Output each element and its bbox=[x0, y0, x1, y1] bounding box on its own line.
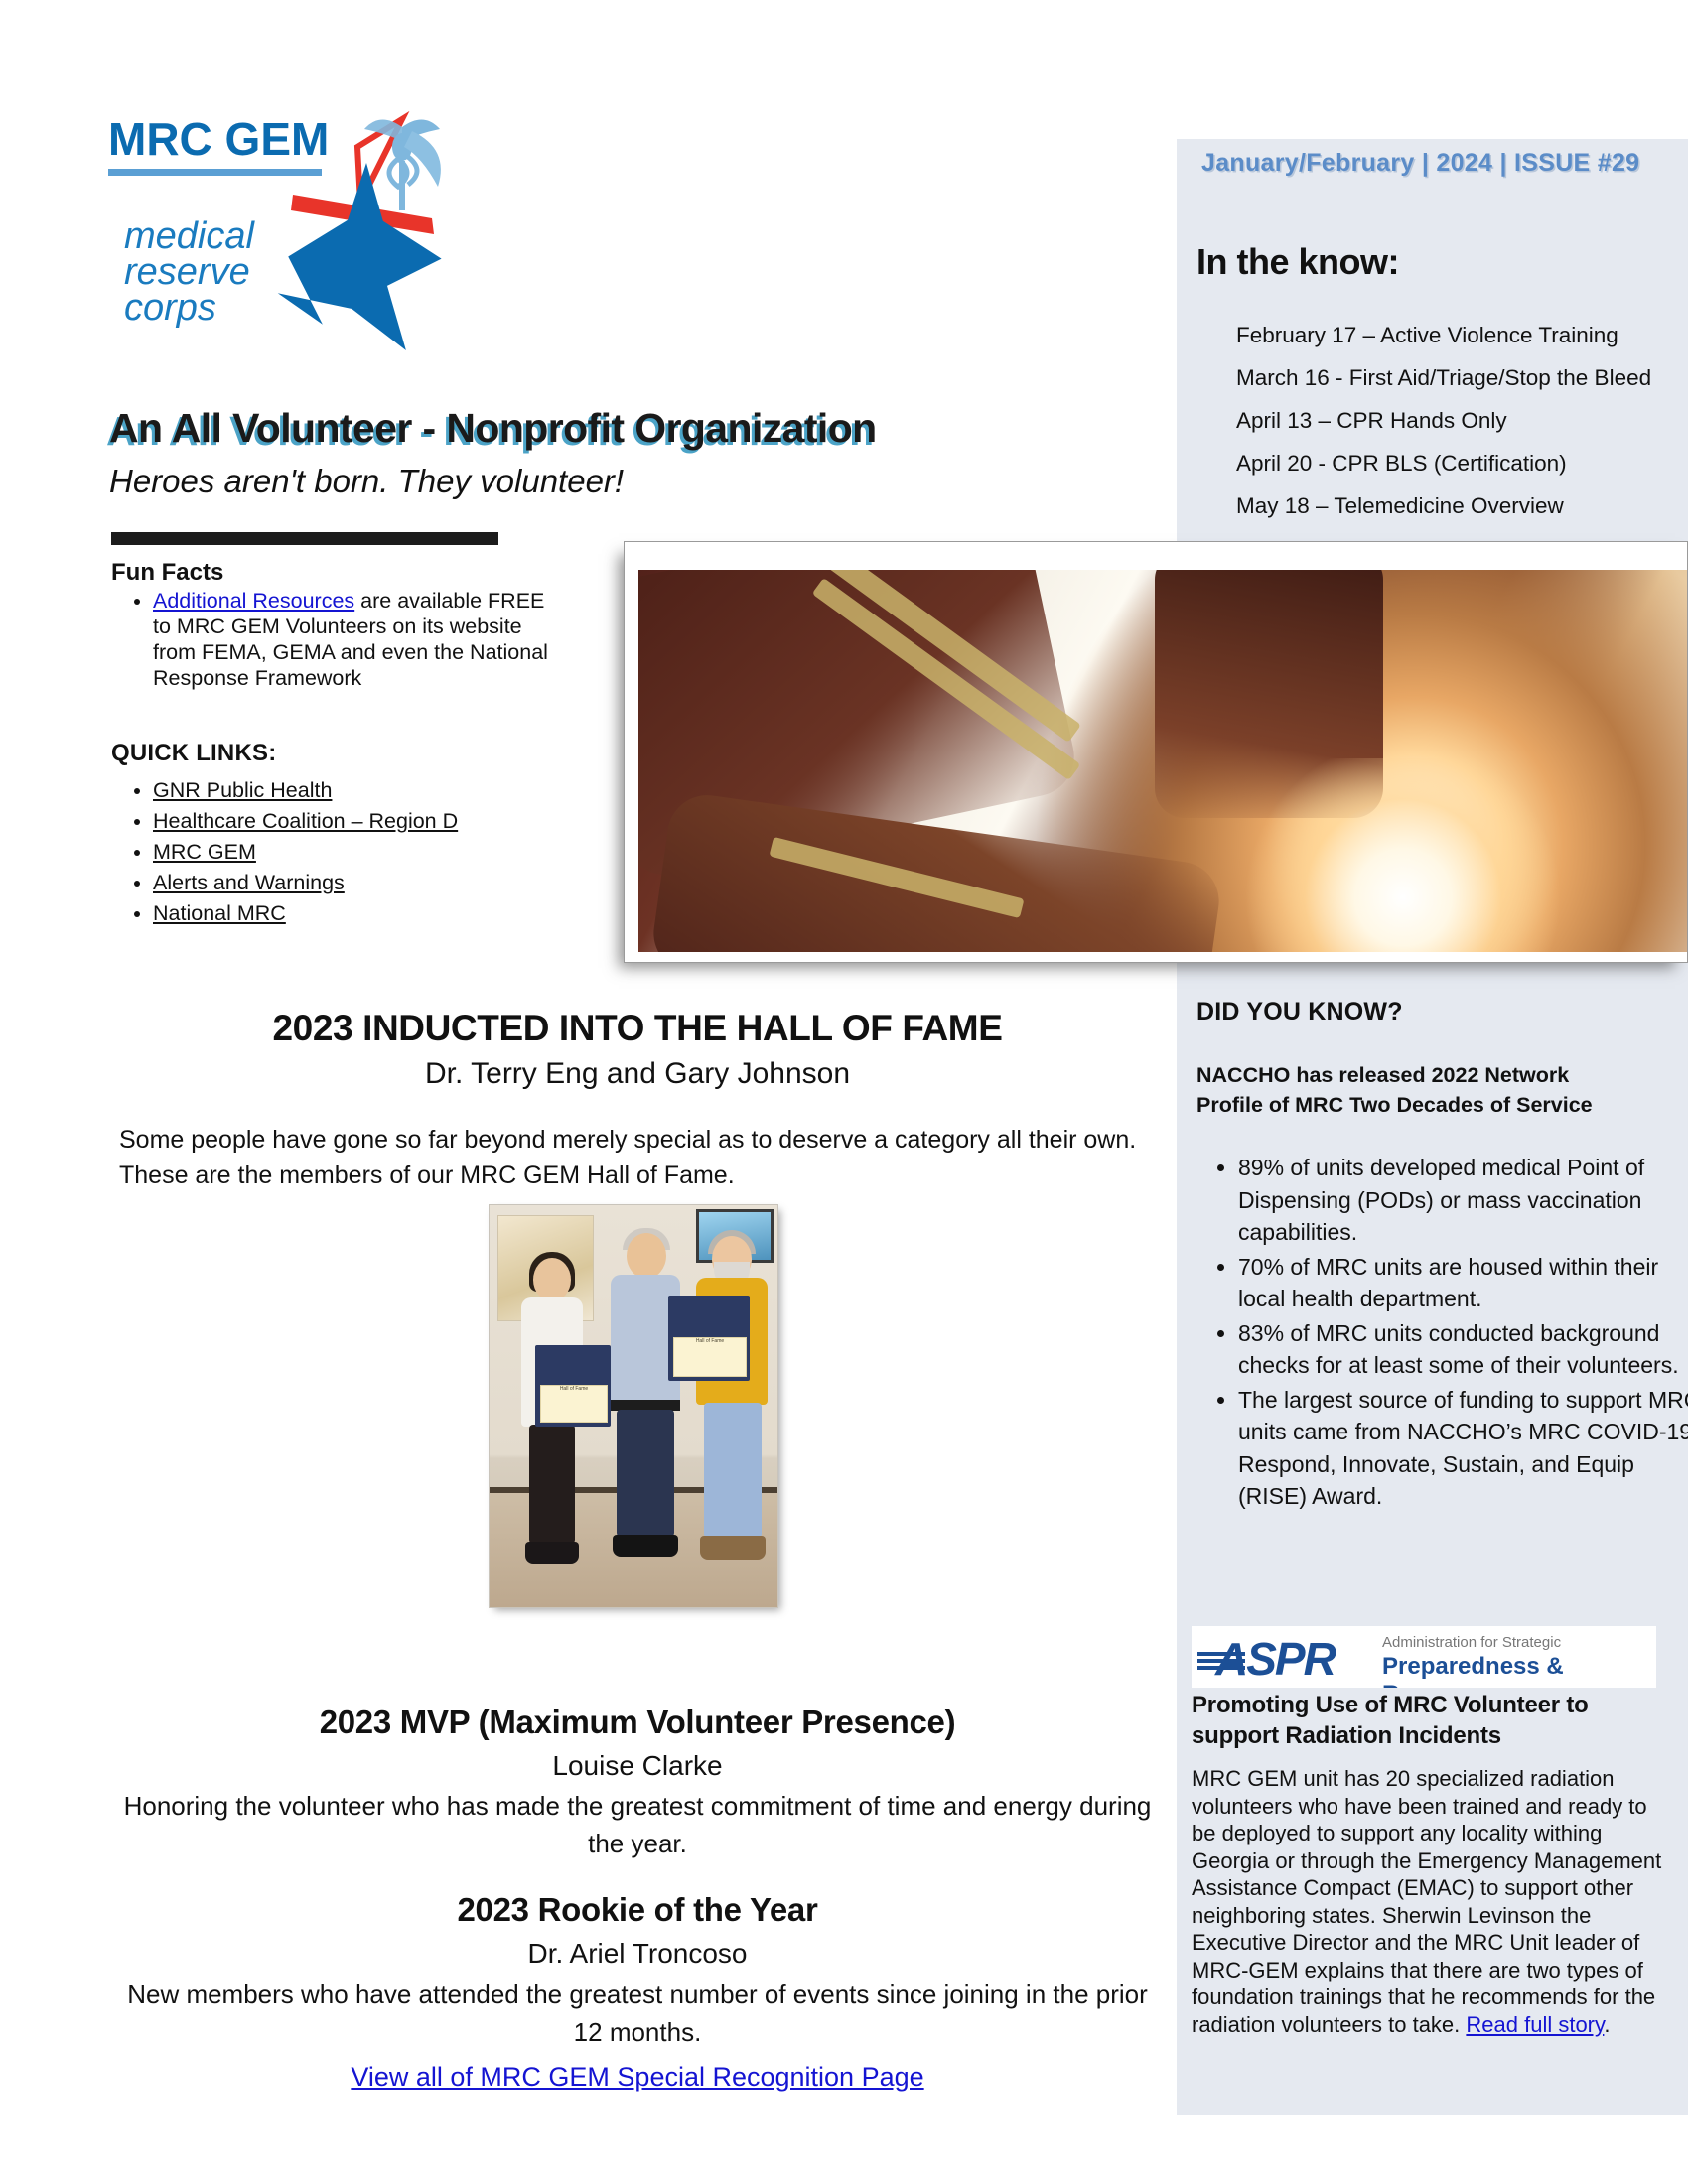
mvp-name: Louise Clarke bbox=[111, 1750, 1164, 1782]
aspr-tagline-line2: Preparedness & Response bbox=[1382, 1653, 1656, 1688]
logo-sub-3: corps bbox=[124, 287, 216, 329]
newsletter-page: January/February | 2024 | ISSUE #29 In t… bbox=[0, 0, 1688, 2184]
sun-flare bbox=[1234, 758, 1572, 952]
quick-link-gnr-public-health[interactable]: GNR Public Health bbox=[153, 778, 332, 802]
list-item: 70% of MRC units are housed within their… bbox=[1238, 1251, 1688, 1315]
event-item: February 17 – Active Violence Training bbox=[1236, 314, 1688, 356]
quick-link-healthcare-coalition[interactable]: Healthcare Coalition – Region D bbox=[153, 809, 458, 833]
mvp-description: Honoring the volunteer who has made the … bbox=[111, 1787, 1164, 1862]
aspr-logo: ASPR Administration for Strategic Prepar… bbox=[1192, 1626, 1656, 1688]
special-recognition-link[interactable]: View all of MRC GEM Special Recognition … bbox=[111, 2062, 1164, 2093]
mrc-gem-logo-svg: MRC GEM medical reserve corps bbox=[104, 107, 526, 375]
quick-link-mrc-gem[interactable]: MRC GEM bbox=[153, 840, 256, 864]
hall-of-fame-body: Some people have gone so far beyond mere… bbox=[119, 1122, 1152, 1193]
certificate-caption: Hall of Fame bbox=[540, 1385, 609, 1423]
person-center bbox=[605, 1233, 688, 1585]
list-item: 83% of MRC units conducted background ch… bbox=[1238, 1317, 1688, 1382]
rookie-description: New members who have attended the greate… bbox=[111, 1976, 1164, 2051]
in-the-know-list: February 17 – Active Violence Training M… bbox=[1196, 314, 1688, 527]
section-divider-bar bbox=[111, 532, 498, 545]
event-item: March 16 - First Aid/Triage/Stop the Ble… bbox=[1236, 356, 1688, 399]
person-left: Hall of Fame bbox=[513, 1258, 593, 1585]
aspr-article-headline: Promoting Use of MRC Volunteer to suppor… bbox=[1192, 1690, 1658, 1751]
quick-links-title: QUICK LINKS: bbox=[111, 740, 276, 767]
event-item: April 13 – CPR Hands Only bbox=[1236, 399, 1688, 442]
event-item: May 18 – Telemedicine Overview bbox=[1236, 484, 1688, 527]
list-item: MRC GEM bbox=[153, 837, 570, 868]
rookie-name: Dr. Ariel Troncoso bbox=[111, 1938, 1164, 1970]
list-item: Additional Resources are available FREE … bbox=[153, 588, 550, 691]
hall-of-fame-title: 2023 INDUCTED INTO THE HALL OF FAME bbox=[111, 1008, 1164, 1049]
list-item: GNR Public Health bbox=[153, 775, 570, 806]
in-the-know-title: In the know: bbox=[1196, 241, 1399, 283]
quick-link-national-mrc[interactable]: National MRC bbox=[153, 901, 286, 925]
fun-facts-list: Additional Resources are available FREE … bbox=[111, 588, 550, 691]
did-you-know-title: DID YOU KNOW? bbox=[1196, 998, 1403, 1026]
quick-links-list: GNR Public Health Healthcare Coalition –… bbox=[111, 775, 570, 929]
certificate-caption: Hall of Fame bbox=[673, 1337, 747, 1377]
radiation-article-body: MRC GEM unit has 20 specialized radiatio… bbox=[1192, 1765, 1668, 2038]
mrc-gem-logo: MRC GEM medical reserve corps bbox=[104, 107, 526, 375]
tagline: Heroes aren't born. They volunteer! bbox=[109, 463, 624, 500]
issue-line: January/February | 2024 | ISSUE #29 bbox=[1201, 149, 1688, 178]
certificate: Hall of Fame bbox=[668, 1296, 750, 1381]
aspr-tagline-line1: Administration for Strategic bbox=[1382, 1634, 1561, 1651]
read-full-story-link[interactable]: Read full story bbox=[1466, 2012, 1604, 2037]
radiation-body-text: MRC GEM unit has 20 specialized radiatio… bbox=[1192, 1766, 1661, 2037]
star-icon bbox=[278, 163, 442, 350]
logo-title-text: MRC GEM bbox=[108, 113, 329, 165]
list-item: 89% of units developed medical Point of … bbox=[1238, 1152, 1688, 1249]
quick-link-alerts-and-warnings[interactable]: Alerts and Warnings bbox=[153, 871, 345, 894]
list-item: The largest source of funding to support… bbox=[1238, 1384, 1688, 1513]
mvp-title: 2023 MVP (Maximum Volunteer Presence) bbox=[111, 1704, 1164, 1741]
list-item: Healthcare Coalition – Region D bbox=[153, 806, 570, 837]
page-title: An All Volunteer - Nonprofit Organizatio… bbox=[109, 405, 877, 452]
did-you-know-subtitle: NACCHO has released 2022 Network Profile… bbox=[1196, 1060, 1614, 1120]
list-item: National MRC bbox=[153, 898, 570, 929]
additional-resources-link[interactable]: Additional Resources bbox=[153, 589, 354, 613]
person-right: Hall of Fame bbox=[694, 1236, 775, 1585]
hall-of-fame-names: Dr. Terry Eng and Gary Johnson bbox=[111, 1057, 1164, 1091]
logo-rule bbox=[108, 169, 322, 176]
fun-facts-title: Fun Facts bbox=[111, 559, 223, 587]
radiation-body-tail: . bbox=[1604, 2012, 1610, 2037]
certificate: Hall of Fame bbox=[535, 1345, 611, 1427]
rookie-title: 2023 Rookie of the Year bbox=[111, 1891, 1164, 1929]
firefighters-hands-photo bbox=[638, 570, 1687, 952]
list-item: Alerts and Warnings bbox=[153, 868, 570, 898]
hero-photo-frame bbox=[624, 541, 1688, 963]
event-item: April 20 - CPR BLS (Certification) bbox=[1236, 442, 1688, 484]
hall-of-fame-photo: Hall of Fame Hall of Fame bbox=[489, 1204, 778, 1608]
aspr-wordmark: ASPR bbox=[1215, 1632, 1335, 1686]
did-you-know-list: 89% of units developed medical Point of … bbox=[1196, 1152, 1688, 1515]
